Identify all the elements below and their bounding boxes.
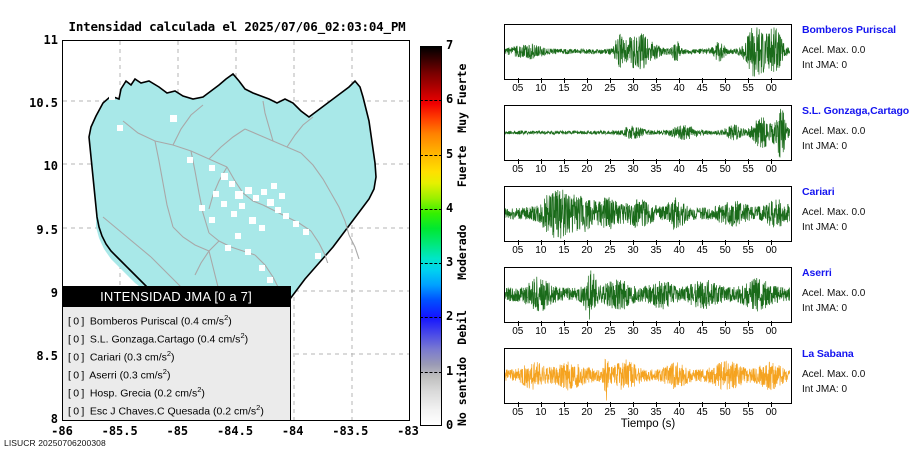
station-int-jma: Int JMA: 0 — [802, 220, 910, 235]
station-info: Bomberos PuriscalAcel. Max. 0.0Int JMA: … — [802, 24, 910, 73]
lon-tick-label: -84.5 — [205, 424, 265, 438]
station-int-jma: Int JMA: 0 — [802, 301, 910, 316]
trace-tick-label: 50 — [716, 407, 734, 418]
trace-tick-label: 15 — [555, 407, 573, 418]
station-accel-max: Acel. Max. 0.0 — [802, 367, 910, 382]
trace-tick-row: 051015202530354045505500 — [504, 245, 792, 261]
map-panel: Intensidad calculada el 2025/07/06_02:03… — [0, 0, 470, 460]
colorbar-tick — [420, 263, 442, 264]
trace-tick-label: 05 — [509, 407, 527, 418]
station-accel-max: Acel. Max. 0.0 — [802, 205, 910, 220]
longitude-axis: -86-85.5-85-84.5-84-83.5-83 — [62, 424, 410, 442]
trace-tick-label: 20 — [578, 83, 596, 94]
trace-tick-label: 00 — [762, 83, 780, 94]
seismogram-plot[interactable] — [504, 24, 792, 80]
lat-tick-label: 9 — [12, 286, 58, 300]
station-name[interactable]: Bomberos Puriscal — [802, 24, 910, 36]
seismogram-plot[interactable] — [504, 348, 792, 404]
trace-tick-label: 10 — [532, 245, 550, 256]
lat-tick-label: 10.5 — [12, 96, 58, 110]
station-int-jma: Int JMA: 0 — [802, 382, 910, 397]
station-int-jma: Int JMA: 0 — [802, 58, 910, 73]
trace-tick-label: 20 — [578, 326, 596, 337]
station-int-jma: Int JMA: 0 — [802, 139, 910, 154]
legend-title: INTENSIDAD JMA [0 a 7] — [62, 287, 290, 307]
page-title: Intensidad calculada el 2025/07/06_02:03… — [62, 19, 412, 34]
trace-tick-label: 10 — [532, 83, 550, 94]
trace-tick-label: 30 — [624, 83, 642, 94]
trace-tick-label: 45 — [693, 83, 711, 94]
seismogram-panel: 051015202530354045505500Bomberos Purisca… — [497, 0, 910, 460]
colorbar-tick — [420, 100, 442, 101]
trace-tick-label: 35 — [647, 83, 665, 94]
trace-tick-label: 55 — [739, 164, 757, 175]
trace-tick-label: 20 — [578, 164, 596, 175]
station-info: CariariAcel. Max. 0.0Int JMA: 0 — [802, 186, 910, 235]
colorbar-tick — [420, 209, 442, 210]
lon-tick-label: -85.5 — [90, 424, 150, 438]
station-accel-max: Acel. Max. 0.0 — [802, 286, 910, 301]
trace-tick-label: 30 — [624, 164, 642, 175]
trace-tick-label: 15 — [555, 326, 573, 337]
trace-tick-label: 40 — [670, 407, 688, 418]
legend-row: [ 0 ] Hosp. Grecia (0.2 cm/s2) — [68, 383, 285, 401]
trace-tick-label: 40 — [670, 326, 688, 337]
latitude-axis: 1110.5109.598.58 — [8, 40, 58, 421]
trace-tick-label: 20 — [578, 245, 596, 256]
legend-row: [ 0 ] Esc J Chaves.C Quesada (0.2 cm/s2) — [68, 401, 285, 419]
trace-tick-label: 05 — [509, 326, 527, 337]
station-accel-max: Acel. Max. 0.0 — [802, 43, 910, 58]
station-info: AserriAcel. Max. 0.0Int JMA: 0 — [802, 267, 910, 316]
trace-tick-label: 50 — [716, 83, 734, 94]
trace-tick-label: 00 — [762, 326, 780, 337]
trace-tick-label: 50 — [716, 326, 734, 337]
trace-tick-label: 15 — [555, 245, 573, 256]
trace-tick-label: 25 — [601, 245, 619, 256]
trace-tick-label: 05 — [509, 245, 527, 256]
legend-row: [ 0 ] Aserri (0.3 cm/s2) — [68, 365, 285, 383]
trace-tick-label: 40 — [670, 164, 688, 175]
intensity-legend: INTENSIDAD JMA [0 a 7] [ 0 ] Bomberos Pu… — [62, 286, 291, 421]
trace-tick-row: 051015202530354045505500 — [504, 83, 792, 99]
lon-tick-label: -83.5 — [320, 424, 380, 438]
trace-tick-label: 45 — [693, 245, 711, 256]
trace-tick-label: 25 — [601, 164, 619, 175]
trace-tick-label: 15 — [555, 164, 573, 175]
legend-row: [ 0 ] Cariari (0.3 cm/s2) — [68, 347, 285, 365]
trace-tick-label: 25 — [601, 326, 619, 337]
colorbar-gradient — [420, 46, 442, 426]
trace-tick-label: 05 — [509, 83, 527, 94]
lon-tick-label: -84 — [263, 424, 323, 438]
trace-tick-label: 40 — [670, 83, 688, 94]
trace-tick-label: 20 — [578, 407, 596, 418]
trace-tick-label: 05 — [509, 164, 527, 175]
trace-tick-label: 45 — [693, 164, 711, 175]
intensity-colorbar-panel: 76543210 Muy FuerteFuerteModeradoDebilNo… — [415, 30, 490, 430]
trace-tick-label: 10 — [532, 326, 550, 337]
lat-tick-label: 9.5 — [12, 223, 58, 237]
colorbar-category-label: Fuerte — [455, 122, 469, 187]
colorbar-category-label: No sentido — [455, 350, 469, 426]
trace-tick-label: 25 — [601, 83, 619, 94]
trace-tick-label: 45 — [693, 407, 711, 418]
lat-tick-label: 8.5 — [12, 349, 58, 363]
station-accel-max: Acel. Max. 0.0 — [802, 124, 910, 139]
trace-tick-label: 55 — [739, 83, 757, 94]
map-plot-area[interactable]: INTENSIDAD JMA [0 a 7] [ 0 ] Bomberos Pu… — [62, 40, 410, 421]
trace-tick-label: 50 — [716, 164, 734, 175]
legend-row: [ 0 ] Bomberos Puriscal (0.4 cm/s2) — [68, 311, 285, 329]
trace-tick-label: 00 — [762, 245, 780, 256]
lon-tick-label: -85 — [147, 424, 207, 438]
lon-tick-label: -86 — [32, 424, 92, 438]
trace-tick-label: 55 — [739, 407, 757, 418]
lat-tick-label: 10 — [12, 159, 58, 173]
trace-tick-label: 25 — [601, 407, 619, 418]
colorbar-tick — [420, 317, 442, 318]
x-axis-title: Tiempo (s) — [504, 418, 792, 430]
seismogram-plot[interactable] — [504, 105, 792, 161]
trace-tick-label: 30 — [624, 245, 642, 256]
trace-tick-label: 50 — [716, 245, 734, 256]
trace-tick-label: 55 — [739, 326, 757, 337]
trace-tick-label: 30 — [624, 407, 642, 418]
colorbar-category-label: Muy Fuerte — [455, 46, 469, 133]
lat-tick-label: 11 — [12, 33, 58, 47]
station-info: La SabanaAcel. Max. 0.0Int JMA: 0 — [802, 348, 910, 397]
footer-note: LISUCR 20250706200308 — [4, 438, 106, 448]
colorbar-category-label: Moderado — [455, 193, 469, 280]
trace-tick-row: 051015202530354045505500 — [504, 326, 792, 342]
legend-row: [ 0 ] S.L. Gonzaga.Cartago (0.4 cm/s2) — [68, 329, 285, 347]
trace-tick-label: 10 — [532, 164, 550, 175]
trace-tick-label: 10 — [532, 407, 550, 418]
seismogram-plot[interactable] — [504, 186, 792, 242]
seismogram-plot[interactable] — [504, 267, 792, 323]
trace-tick-label: 35 — [647, 245, 665, 256]
station-name[interactable]: La Sabana — [802, 348, 910, 360]
trace-tick-label: 55 — [739, 245, 757, 256]
colorbar-category-label: Debil — [455, 285, 469, 345]
station-name[interactable]: S.L. Gonzaga,Cartago — [802, 105, 910, 117]
station-name[interactable]: Aserri — [802, 267, 910, 279]
trace-tick-label: 35 — [647, 164, 665, 175]
trace-tick-label: 35 — [647, 326, 665, 337]
trace-tick-label: 40 — [670, 245, 688, 256]
trace-tick-label: 45 — [693, 326, 711, 337]
trace-tick-label: 35 — [647, 407, 665, 418]
trace-tick-label: 00 — [762, 164, 780, 175]
trace-tick-label: 30 — [624, 326, 642, 337]
station-name[interactable]: Cariari — [802, 186, 910, 198]
trace-tick-label: 15 — [555, 83, 573, 94]
colorbar-tick — [420, 155, 442, 156]
legend-rows: [ 0 ] Bomberos Puriscal (0.4 cm/s2)[ 0 ]… — [62, 307, 290, 421]
trace-tick-label: 00 — [762, 407, 780, 418]
station-info: S.L. Gonzaga,CartagoAcel. Max. 0.0Int JM… — [802, 105, 910, 154]
colorbar-tick — [420, 372, 442, 373]
trace-tick-row: 051015202530354045505500 — [504, 164, 792, 180]
